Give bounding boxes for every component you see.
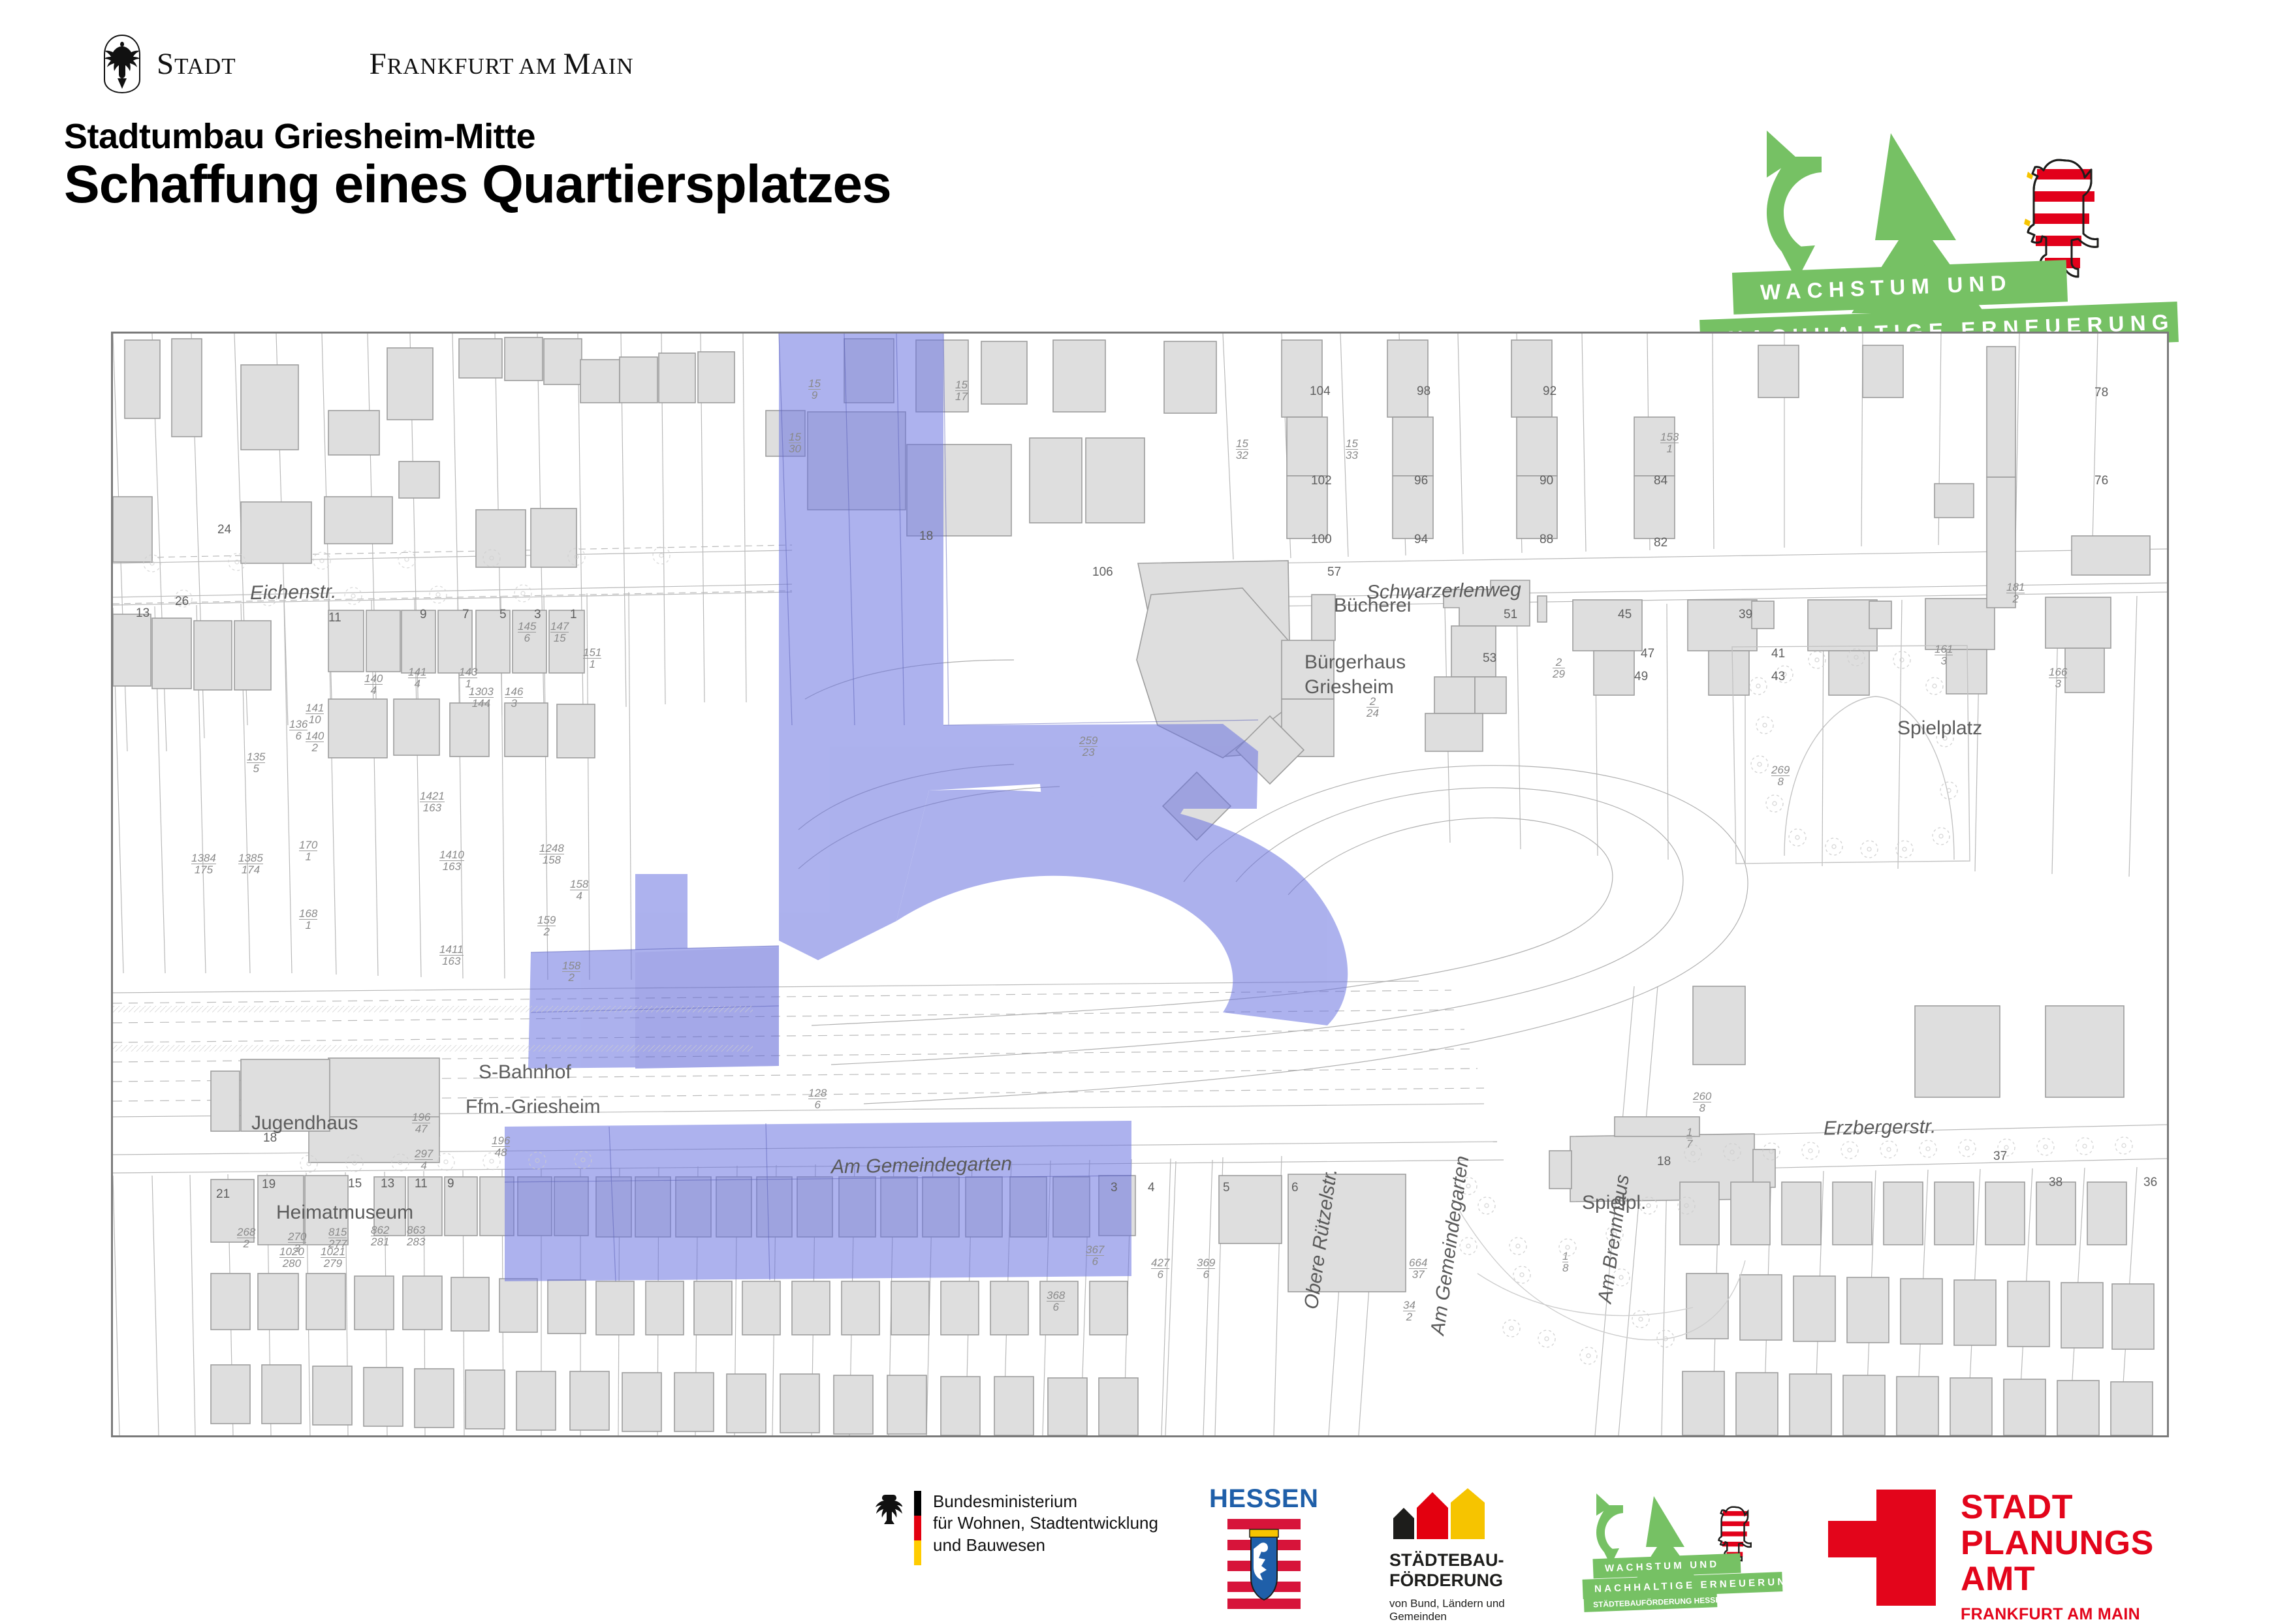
bmwsb-logo: Bundesministerium für Wohnen, Stadtentwi… [868,1491,1158,1565]
stadtplanungsamt-block-icon [1828,1490,1936,1606]
spa-line-2: PLANUNGS [1961,1525,2154,1561]
bmwsb-line-1: Bundesministerium [933,1491,1158,1512]
staedtebau-sub-2: Gemeinden [1389,1610,1505,1623]
recycle-arrow-icon-small [1596,1493,1623,1565]
cadastral-map[interactable]: Eichenstr.SchwarzerlenwegErzbergerstr.Am… [111,332,2169,1437]
bmwsb-label: Bundesministerium für Wohnen, Stadtentwi… [933,1491,1158,1556]
footer-logo-bar: Bundesministerium für Wohnen, Stadtentwi… [0,1482,2291,1612]
staedtebau-sub-1: von Bund, Ländern und [1389,1597,1505,1610]
bundesadler-icon [868,1491,902,1531]
frankfurt-eagle-icon [98,34,146,94]
city-logo: STADT FRANKFURT AM MAIN [98,34,634,94]
staedtebau-line-2: FÖRDERUNG [1389,1570,1505,1591]
spa-line-1: STADT [1961,1490,2154,1525]
recycle-arrow-icon [1767,131,1822,281]
city-wordmark: STADT FRANKFURT AM MAIN [157,49,634,80]
bmwsb-line-3: und Bauwesen [933,1535,1158,1556]
three-houses-icon [1389,1488,1485,1539]
spa-label: STADT PLANUNGS AMT [1961,1490,2154,1597]
hessen-coat-of-arms-icon [1227,1518,1301,1609]
page-title: Schaffung eines Quartiersplatzes [64,154,891,215]
bmwsb-line-2: für Wohnen, Stadtentwicklung [933,1512,1158,1534]
stadtplanungsamt-logo: STADT PLANUNGS AMT FRANKFURT AM MAIN [1828,1490,2154,1624]
spa-line-3: AMT [1961,1561,2154,1597]
hessen-wordmark: HESSEN [1209,1484,1319,1514]
highlight-area [505,334,1348,1281]
map-vector-layer [113,334,2167,1435]
hessen-logo: HESSEN [1209,1484,1319,1612]
staedtebau-sub: von Bund, Ländern und Gemeinden [1389,1597,1505,1624]
hessen-lion-icon-small [1718,1507,1750,1561]
spa-sub: FRANKFURT AM MAIN [1961,1605,2154,1624]
project-subtitle: Stadtumbau Griesheim-Mitte [64,116,535,157]
staedtebaufoerderung-logo: STÄDTEBAU- FÖRDERUNG von Bund, Ländern u… [1389,1488,1505,1624]
staedtebau-line-1: STÄDTEBAU- [1389,1550,1505,1570]
staedtebau-label: STÄDTEBAU- FÖRDERUNG [1389,1550,1505,1591]
wachstum-logo-small: WACHSTUM UND NACHHALTIGE ERNEUERUNG STÄD… [1579,1488,1794,1606]
